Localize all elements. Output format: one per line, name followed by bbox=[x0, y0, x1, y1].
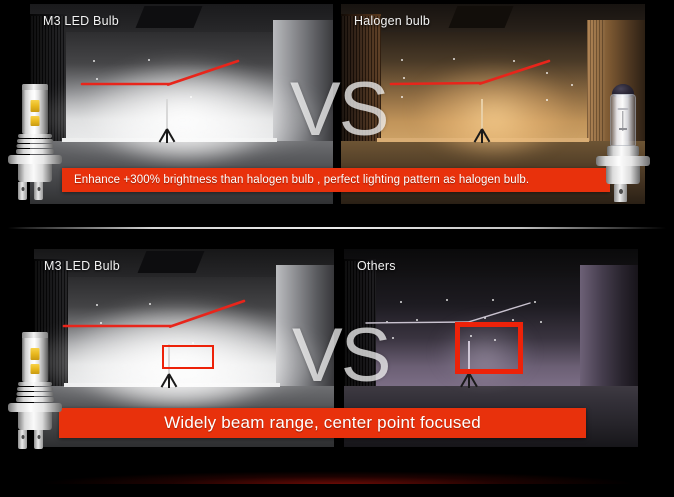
bottom-ambient-glow bbox=[0, 468, 674, 484]
brightness-comparison: M3 LED Bulb bbox=[0, 0, 674, 228]
panel-label-halogen-brightness: Halogen bulb bbox=[354, 14, 430, 28]
bulb-prong bbox=[34, 430, 43, 449]
heatsink-fin bbox=[17, 139, 53, 143]
bulb-prong bbox=[18, 430, 27, 449]
led-chip bbox=[31, 100, 40, 112]
bulb-base bbox=[606, 166, 640, 184]
bulb-flange bbox=[596, 156, 650, 166]
led-bulb-top bbox=[4, 84, 66, 206]
prong-hole bbox=[21, 435, 24, 439]
tab-hole bbox=[619, 189, 623, 194]
halogen-bulb-top bbox=[592, 84, 654, 206]
led-cap bbox=[22, 332, 48, 338]
bulb-base bbox=[18, 164, 52, 182]
heatsink-fin bbox=[17, 392, 54, 396]
prong-hole bbox=[21, 187, 24, 191]
bulb-tab bbox=[614, 184, 627, 202]
section-divider bbox=[8, 227, 666, 229]
prong-hole bbox=[37, 187, 40, 191]
bulb-collar bbox=[607, 146, 639, 156]
heatsink-fin bbox=[17, 144, 54, 148]
caption-bar-beam-range: Widely beam range, center point focused bbox=[59, 408, 586, 438]
heatsink-fin bbox=[17, 387, 53, 391]
bulb-prong bbox=[18, 182, 27, 200]
heatsink-fin bbox=[16, 149, 54, 154]
filament bbox=[619, 128, 627, 130]
heatsink-fin bbox=[18, 382, 52, 386]
led-cap bbox=[22, 84, 48, 90]
caption-text-beam-range: Widely beam range, center point focused bbox=[164, 413, 481, 433]
bulb-prong bbox=[34, 182, 43, 200]
prong-hole bbox=[37, 435, 40, 439]
beam-range-comparison: M3 LED Bulb bbox=[0, 240, 674, 470]
bulb-base bbox=[18, 412, 52, 430]
led-chip bbox=[31, 348, 40, 360]
panel-label-led-brightness: M3 LED Bulb bbox=[43, 14, 119, 28]
filament-shield bbox=[618, 108, 629, 110]
led-chip bbox=[31, 116, 40, 126]
focus-highlight-others bbox=[455, 322, 523, 374]
bulb-flange bbox=[8, 155, 62, 164]
caption-text-brightness: Enhance +300% brightness than halogen bu… bbox=[62, 174, 529, 186]
panel-label-led-beam-range: M3 LED Bulb bbox=[44, 259, 120, 273]
heatsink-fin bbox=[18, 134, 52, 138]
bulb-flange bbox=[8, 403, 62, 412]
product-comparison-banner: M3 LED Bulb bbox=[0, 0, 674, 497]
panel-label-others: Others bbox=[357, 259, 396, 273]
led-bulb-bottom bbox=[4, 332, 66, 456]
heatsink-fin bbox=[16, 397, 54, 402]
caption-bar-brightness: Enhance +300% brightness than halogen bu… bbox=[62, 168, 610, 192]
focus-highlight-led bbox=[162, 345, 214, 369]
led-chip bbox=[31, 364, 40, 374]
